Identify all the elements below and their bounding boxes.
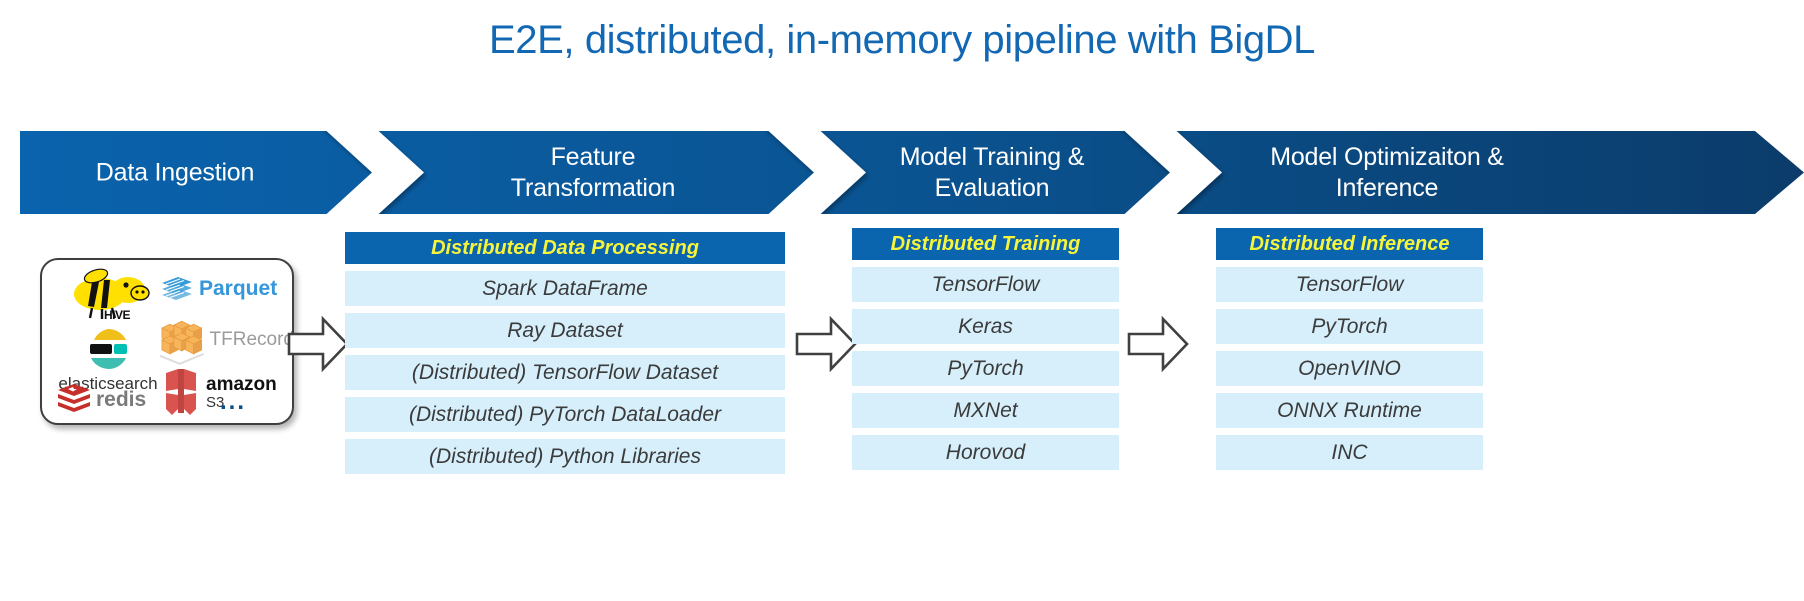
table-row[interactable]: TensorFlow [1216,267,1483,302]
parquet-logo-label: Parquet [199,277,277,301]
source-box-ellipsis: ... [220,388,246,416]
pipeline-banner: Data Ingestion Feature Transformation Mo… [20,131,1804,214]
flow-arrow-2 [795,313,857,375]
table-row[interactable]: PyTorch [852,351,1119,386]
stage-label-model-training-evaluation: Model Training & Evaluation [866,142,1118,204]
tfrecord-logo: TFRecord [154,312,294,368]
redis-logo-icon [56,382,92,418]
flow-arrow-1 [287,313,349,375]
hive-logo: HIVE [60,268,158,320]
redis-logo: redis [56,380,166,420]
table-row[interactable]: OpenVINO [1216,351,1483,386]
table-row[interactable]: MXNet [852,393,1119,428]
table-header: Distributed Data Processing [345,232,785,264]
tfrecord-logo-icon [154,314,206,366]
table-row[interactable]: Spark DataFrame [345,271,785,306]
hive-logo-label: HIVE [104,308,130,322]
parquet-logo: Parquet [160,272,288,306]
redis-logo-label: redis [96,388,146,412]
flow-arrow-3 [1127,313,1189,375]
table-row[interactable]: TensorFlow [852,267,1119,302]
table-header: Distributed Inference [1216,228,1483,260]
table-row[interactable]: Keras [852,309,1119,344]
parquet-logo-icon [160,275,194,303]
distributed-training-table: Distributed Training TensorFlow Keras Py… [852,228,1119,470]
stage-label-model-optimization-inference: Model Optimizaiton & Inference [1222,142,1552,204]
elasticsearch-logo-icon [86,327,130,371]
table-row[interactable]: PyTorch [1216,309,1483,344]
tfrecord-logo-label: TFRecord [210,329,294,351]
table-row[interactable]: Horovod [852,435,1119,470]
page-title: E2E, distributed, in-memory pipeline wit… [0,18,1804,63]
stage-label-data-ingestion: Data Ingestion [30,157,320,188]
table-header: Distributed Training [852,228,1119,260]
distributed-data-processing-table: Distributed Data Processing Spark DataFr… [345,232,785,474]
table-row[interactable]: ONNX Runtime [1216,393,1483,428]
stage-label-feature-transformation: Feature Transformation [424,142,762,204]
table-row[interactable]: (Distributed) Python Libraries [345,439,785,474]
table-row[interactable]: Ray Dataset [345,313,785,348]
amazon-s3-logo-icon [160,369,202,415]
table-row[interactable]: (Distributed) TensorFlow Dataset [345,355,785,390]
distributed-inference-table: Distributed Inference TensorFlow PyTorch… [1216,228,1483,470]
table-row[interactable]: (Distributed) PyTorch DataLoader [345,397,785,432]
data-source-box: HIVE Parquet elasticsearch [40,258,294,425]
table-row[interactable]: INC [1216,435,1483,470]
